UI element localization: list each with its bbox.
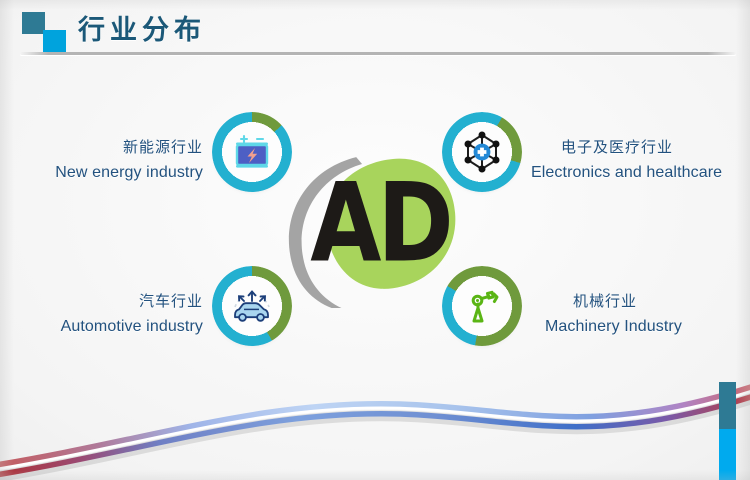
electronics-healthcare-label-en: Electronics and healthcare bbox=[531, 161, 750, 184]
connected-car-icon bbox=[227, 281, 277, 331]
edge-bar-cyan bbox=[719, 429, 736, 480]
electronics-healthcare-labels: 电子及医疗行业 Electronics and healthcare bbox=[531, 137, 750, 184]
network-medical-cross-icon bbox=[458, 128, 506, 176]
new-energy-label-en: New energy industry bbox=[18, 161, 203, 184]
battery-bolt-icon bbox=[229, 129, 275, 175]
machinery-badge[interactable] bbox=[448, 272, 516, 340]
edge-bar-teal bbox=[719, 382, 736, 429]
electronics-healthcare-label-cn: 电子及医疗行业 bbox=[531, 137, 750, 159]
two-squares-logo bbox=[22, 12, 68, 52]
automotive-labels: 汽车行业 Automotive industry bbox=[18, 291, 203, 338]
decorative-wave-ribbon bbox=[0, 360, 750, 480]
logo-square-bright bbox=[43, 30, 66, 52]
automotive-label-cn: 汽车行业 bbox=[18, 291, 203, 313]
machinery-labels: 机械行业 Machinery Industry bbox=[531, 291, 750, 338]
machinery-label-cn: 机械行业 bbox=[531, 291, 750, 313]
machinery-label-en: Machinery Industry bbox=[531, 315, 750, 338]
logo-square-dark bbox=[22, 12, 45, 34]
slide-canvas: 行业分布 AD 新能源行业 New energy in bbox=[0, 0, 750, 480]
robot-arm-icon bbox=[460, 284, 504, 328]
electronics-healthcare-badge[interactable] bbox=[448, 118, 516, 186]
new-energy-label-cn: 新能源行业 bbox=[18, 137, 203, 159]
page-title: 行业分布 bbox=[78, 8, 206, 47]
title-divider bbox=[20, 52, 736, 55]
new-energy-badge[interactable] bbox=[218, 118, 286, 186]
automotive-label-en: Automotive industry bbox=[18, 315, 203, 338]
automotive-badge[interactable] bbox=[218, 272, 286, 340]
new-energy-labels: 新能源行业 New energy industry bbox=[18, 137, 203, 184]
